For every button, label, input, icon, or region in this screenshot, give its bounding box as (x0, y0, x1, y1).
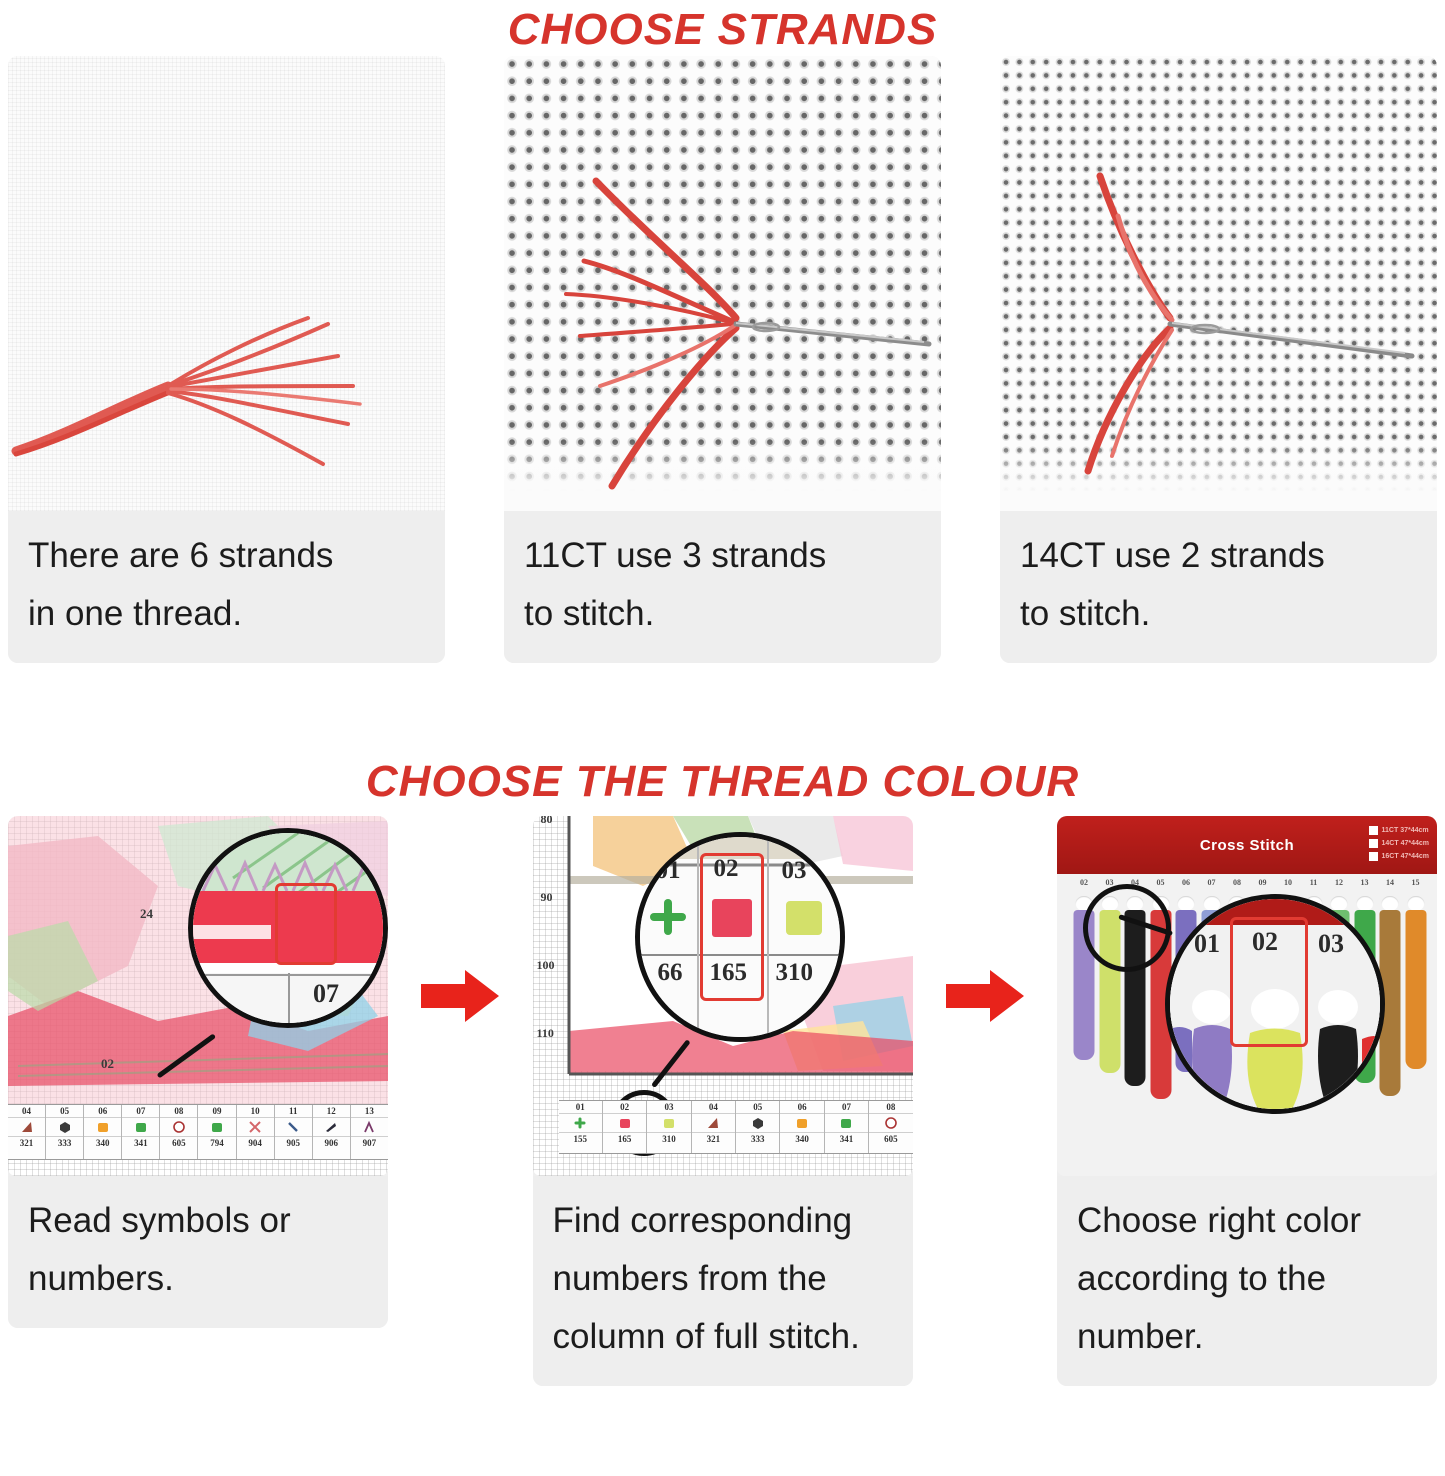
skein-number: 11 (1301, 878, 1327, 887)
magnified-column-02: 02 (714, 855, 739, 883)
legend-cell: 07341 (122, 1105, 160, 1159)
magnifier-icon: 07 (188, 828, 388, 1028)
legend-column-number: 06 (798, 1101, 807, 1113)
thread-card-header: Cross Stitch 11CT 37*44cm 14CT 47*44cm 1… (1057, 816, 1437, 874)
legend-thread-code: 321 (20, 1137, 34, 1150)
legend-cell: 05333 (736, 1101, 780, 1153)
caption-line: according to the (1077, 1250, 1417, 1308)
magnifier-icon: 01 02 03 66 165 310 (635, 832, 845, 1042)
legend-column-number: 06 (98, 1105, 107, 1117)
caption-line: to stitch. (524, 585, 921, 643)
two-strands-and-needle-illustration (1000, 56, 1437, 511)
chart-row-label: 80 (541, 816, 553, 827)
legend-column-number: 07 (136, 1105, 145, 1117)
skein-hole (1382, 896, 1399, 911)
caption-line: column of full stitch. (553, 1308, 893, 1366)
card-option[interactable]: 16CT 47*44cm (1369, 852, 1429, 861)
symbol-legend-table: 0115502165033100432105333063400734108605 (559, 1100, 913, 1154)
magnified-highlight-box (275, 883, 337, 965)
legend-symbol-icon (84, 1117, 121, 1137)
right-arrow-icon (946, 968, 1024, 1024)
skein-number: 02 (1071, 878, 1097, 887)
legend-cell: 01155 (559, 1101, 603, 1153)
legend-column-number: 12 (327, 1105, 336, 1117)
legend-symbol-icon (825, 1113, 868, 1133)
three-strands-and-needle-illustration (504, 56, 941, 511)
checkbox-icon[interactable] (1369, 839, 1378, 848)
skein-number: 15 (1403, 878, 1429, 887)
legend-symbol-icon (692, 1113, 735, 1133)
caption-six-strands: There are 6 strands in one thread. (8, 511, 445, 663)
legend-symbol-icon (603, 1113, 646, 1133)
magnified-slot-02: 02 (1252, 927, 1278, 957)
photo-thread-card: Cross Stitch 11CT 37*44cm 14CT 47*44cm 1… (1057, 816, 1437, 1176)
legend-symbol-icon (237, 1117, 274, 1137)
legend-column-number: 10 (251, 1105, 260, 1117)
magnified-column-01: 01 (656, 857, 681, 885)
legend-column-number: 07 (842, 1101, 851, 1113)
caption-line: Choose right color (1077, 1192, 1417, 1250)
photo-pattern-chart-numbers: 80 90 100 110 (533, 816, 913, 1176)
magnifier-icon: 01 02 03 (1165, 894, 1385, 1114)
legend-symbol-icon (647, 1113, 690, 1133)
magnified-code-310: 310 (776, 959, 814, 987)
legend-thread-code: 605 (884, 1133, 898, 1146)
legend-column-number: 05 (753, 1101, 762, 1113)
legend-thread-code: 340 (795, 1133, 809, 1146)
skein-number: 05 (1148, 878, 1174, 887)
legend-thread-code: 340 (96, 1137, 110, 1150)
legend-column-number: 01 (576, 1101, 585, 1113)
legend-column-number: 09 (213, 1105, 222, 1117)
legend-symbol-icon (869, 1113, 912, 1133)
legend-cell: 12906 (313, 1105, 351, 1159)
skein-number: 07 (1199, 878, 1225, 887)
legend-cell: 11905 (275, 1105, 313, 1159)
legend-thread-code: 905 (286, 1137, 300, 1150)
legend-column-number: 02 (620, 1101, 629, 1113)
legend-thread-code: 907 (363, 1137, 377, 1150)
panel-six-strands: There are 6 strands in one thread. (8, 56, 445, 663)
legend-thread-code: 165 (618, 1133, 632, 1146)
legend-cell: 09794 (198, 1105, 236, 1159)
legend-column-number: 08 (886, 1101, 895, 1113)
skein-number: 10 (1275, 878, 1301, 887)
legend-thread-code: 904 (248, 1137, 262, 1150)
skein-number: 06 (1173, 878, 1199, 887)
legend-cell: 02165 (603, 1101, 647, 1153)
skein-number: 12 (1326, 878, 1352, 887)
legend-column-number: 04 (709, 1101, 718, 1113)
caption-11ct: 11CT use 3 strands to stitch. (504, 511, 941, 663)
chart-row-label: 90 (541, 890, 553, 905)
skein-number: 14 (1377, 878, 1403, 887)
legend-thread-code: 333 (58, 1137, 72, 1150)
caption-line: 14CT use 2 strands (1020, 527, 1417, 585)
caption-read-symbols: Read symbols or numbers. (8, 1176, 388, 1328)
legend-thread-code: 333 (751, 1133, 765, 1146)
magnified-number-07: 07 (313, 979, 339, 1009)
legend-column-number: 04 (22, 1105, 31, 1117)
legend-symbol-icon (780, 1113, 823, 1133)
legend-thread-code: 906 (325, 1137, 339, 1150)
legend-symbol-icon (122, 1117, 159, 1137)
caption-line: to stitch. (1020, 585, 1417, 643)
legend-thread-code: 310 (662, 1133, 676, 1146)
legend-symbol-icon (160, 1117, 197, 1137)
needle (736, 323, 929, 344)
magnifier-source-circle (1083, 884, 1171, 972)
card-option[interactable]: 11CT 37*44cm (1369, 826, 1429, 835)
magnified-slot-01: 01 (1194, 929, 1220, 959)
photo-11ct-aida (504, 56, 941, 511)
panel-14ct: 14CT use 2 strands to stitch. (1000, 56, 1437, 663)
panel-11ct: 11CT use 3 strands to stitch. (504, 56, 941, 663)
skein-hole (1407, 896, 1424, 911)
legend-symbol-icon (313, 1117, 350, 1137)
legend-cell: 03310 (647, 1101, 691, 1153)
chart-number-02: 02 (101, 1056, 114, 1072)
card-option-label: 16CT 47*44cm (1382, 853, 1429, 860)
legend-column-number: 03 (664, 1101, 673, 1113)
legend-column-number: 13 (365, 1105, 374, 1117)
legend-symbol-icon (559, 1113, 602, 1133)
caption-line: number. (1077, 1308, 1417, 1366)
magnified-slot-03: 03 (1318, 929, 1344, 959)
legend-cell: 08605 (160, 1105, 198, 1159)
caption-line: numbers from the (553, 1250, 893, 1308)
magnified-code-66: 66 (658, 959, 683, 987)
legend-column-number: 11 (289, 1105, 298, 1117)
thread-card-options: 11CT 37*44cm 14CT 47*44cm 16CT 47*44cm (1369, 826, 1429, 861)
legend-cell: 06340 (780, 1101, 824, 1153)
caption-line: There are 6 strands (28, 527, 425, 585)
photo-14ct-aida (1000, 56, 1437, 511)
strands-panel-row: There are 6 strands in one thread. (0, 56, 1445, 746)
checkbox-icon[interactable] (1369, 826, 1378, 835)
legend-thread-code: 794 (210, 1137, 224, 1150)
magnified-code-165: 165 (710, 959, 748, 987)
caption-14ct: 14CT use 2 strands to stitch. (1000, 511, 1437, 663)
legend-cell: 04321 (692, 1101, 736, 1153)
legend-column-number: 05 (60, 1105, 69, 1117)
legend-symbol-icon (8, 1117, 45, 1137)
arrow-2 (937, 816, 1032, 1176)
card-option-label: 11CT 37*44cm (1382, 827, 1429, 834)
legend-thread-code: 605 (172, 1137, 186, 1150)
caption-find-numbers: Find corresponding numbers from the colu… (533, 1176, 913, 1386)
chart-number-24: 24 (140, 906, 153, 922)
colour-panel-row: 24 02 (0, 816, 1445, 1416)
panel-choose-color: Cross Stitch 11CT 37*44cm 14CT 47*44cm 1… (1057, 816, 1437, 1386)
panel-read-symbols: 24 02 (8, 816, 388, 1328)
legend-symbol-icon (275, 1117, 312, 1137)
legend-thread-code: 321 (707, 1133, 721, 1146)
skein-number: 08 (1224, 878, 1250, 887)
legend-cell: 07341 (825, 1101, 869, 1153)
caption-choose-color: Choose right color according to the numb… (1057, 1176, 1437, 1386)
six-strands-floss-illustration (8, 56, 445, 511)
photo-pattern-chart: 24 02 (8, 816, 388, 1176)
legend-cell: 13907 (351, 1105, 388, 1159)
caption-line: Find corresponding (553, 1192, 893, 1250)
legend-thread-code: 341 (840, 1133, 854, 1146)
chart-row-label: 110 (537, 1026, 554, 1041)
legend-cell: 05333 (46, 1105, 84, 1159)
skein-number: 13 (1352, 878, 1378, 887)
legend-cell: 08605 (869, 1101, 912, 1153)
chart-row-label: 100 (537, 958, 555, 973)
caption-line: 11CT use 3 strands (524, 527, 921, 585)
section-heading-choose-thread-colour: CHOOSE THE THREAD COLOUR (0, 746, 1445, 816)
magnified-column-03: 03 (782, 857, 807, 885)
section-heading-choose-strands: CHOOSE STRANDS (0, 0, 1445, 56)
needle (1170, 323, 1412, 356)
card-option[interactable]: 14CT 47*44cm (1369, 839, 1429, 848)
legend-cell: 10904 (237, 1105, 275, 1159)
legend-thread-code: 155 (573, 1133, 587, 1146)
photo-six-strands (8, 56, 445, 511)
legend-cell: 06340 (84, 1105, 122, 1159)
legend-cell: 04321 (8, 1105, 46, 1159)
caption-line: numbers. (28, 1250, 368, 1308)
card-option-label: 14CT 47*44cm (1382, 840, 1429, 847)
checkbox-icon[interactable] (1369, 852, 1378, 861)
legend-column-number: 08 (174, 1105, 183, 1117)
right-arrow-icon (421, 968, 499, 1024)
thread-card-title: Cross Stitch (1200, 837, 1294, 854)
legend-symbol-icon (46, 1117, 83, 1137)
legend-symbol-icon (198, 1117, 235, 1137)
legend-symbol-icon (351, 1117, 388, 1137)
skein-floss (1405, 910, 1426, 1069)
skein-number: 09 (1250, 878, 1276, 887)
caption-line: Read symbols or (28, 1192, 368, 1250)
arrow-1 (413, 816, 508, 1176)
legend-thread-code: 341 (134, 1137, 148, 1150)
symbol-legend-table: 0432105333063400734108605097941090411905… (8, 1104, 388, 1160)
panel-find-numbers: 80 90 100 110 (533, 816, 913, 1386)
legend-symbol-icon (736, 1113, 779, 1133)
caption-line: in one thread. (28, 585, 425, 643)
